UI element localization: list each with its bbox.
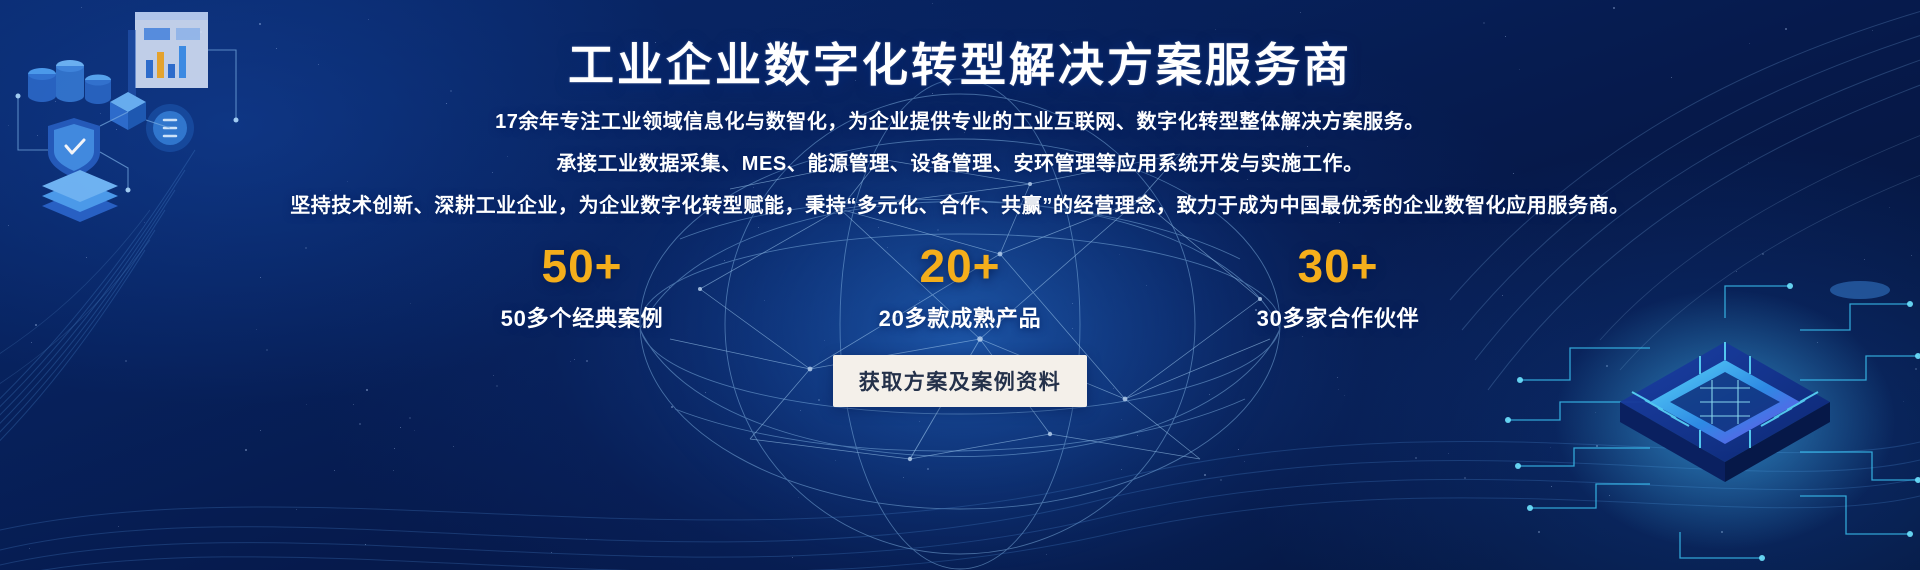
page-title: 工业企业数字化转型解决方案服务商	[568, 38, 1352, 92]
stat-label: 30多家合作伙伴	[1233, 301, 1443, 333]
description-line-3: 坚持技术创新、深耕工业企业，为企业数字化转型赋能，秉持“多元化、合作、共赢”的经…	[0, 196, 1920, 216]
description-block: 17余年专注工业领域信息化与数智化，为企业提供专业的工业互联网、数字化转型整体解…	[0, 112, 1920, 216]
stat-label: 20多款成熟产品	[855, 301, 1065, 333]
stat-number: 20+	[855, 242, 1065, 290]
stat-item-products: 20+ 20多款成熟产品	[855, 242, 1065, 332]
banner-content: 工业企业数字化转型解决方案服务商 17余年专注工业领域信息化与数智化，为企业提供…	[0, 0, 1920, 570]
cta-wrapper: 获取方案及案例资料	[0, 355, 1920, 407]
stat-item-cases: 50+ 50多个经典案例	[477, 242, 687, 332]
stats-row: 50+ 50多个经典案例 20+ 20多款成熟产品 30+ 30多家合作伙伴	[477, 242, 1443, 332]
stat-number: 50+	[477, 242, 687, 290]
stat-number: 30+	[1233, 242, 1443, 290]
promo-banner: 工业企业数字化转型解决方案服务商 17余年专注工业领域信息化与数智化，为企业提供…	[0, 0, 1920, 570]
description-line-2: 承接工业数据采集、MES、能源管理、设备管理、安环管理等应用系统开发与实施工作。	[0, 154, 1920, 174]
get-materials-button[interactable]: 获取方案及案例资料	[833, 355, 1088, 407]
stat-label: 50多个经典案例	[477, 301, 687, 333]
description-line-1: 17余年专注工业领域信息化与数智化，为企业提供专业的工业互联网、数字化转型整体解…	[0, 112, 1920, 132]
stat-item-partners: 30+ 30多家合作伙伴	[1233, 242, 1443, 332]
